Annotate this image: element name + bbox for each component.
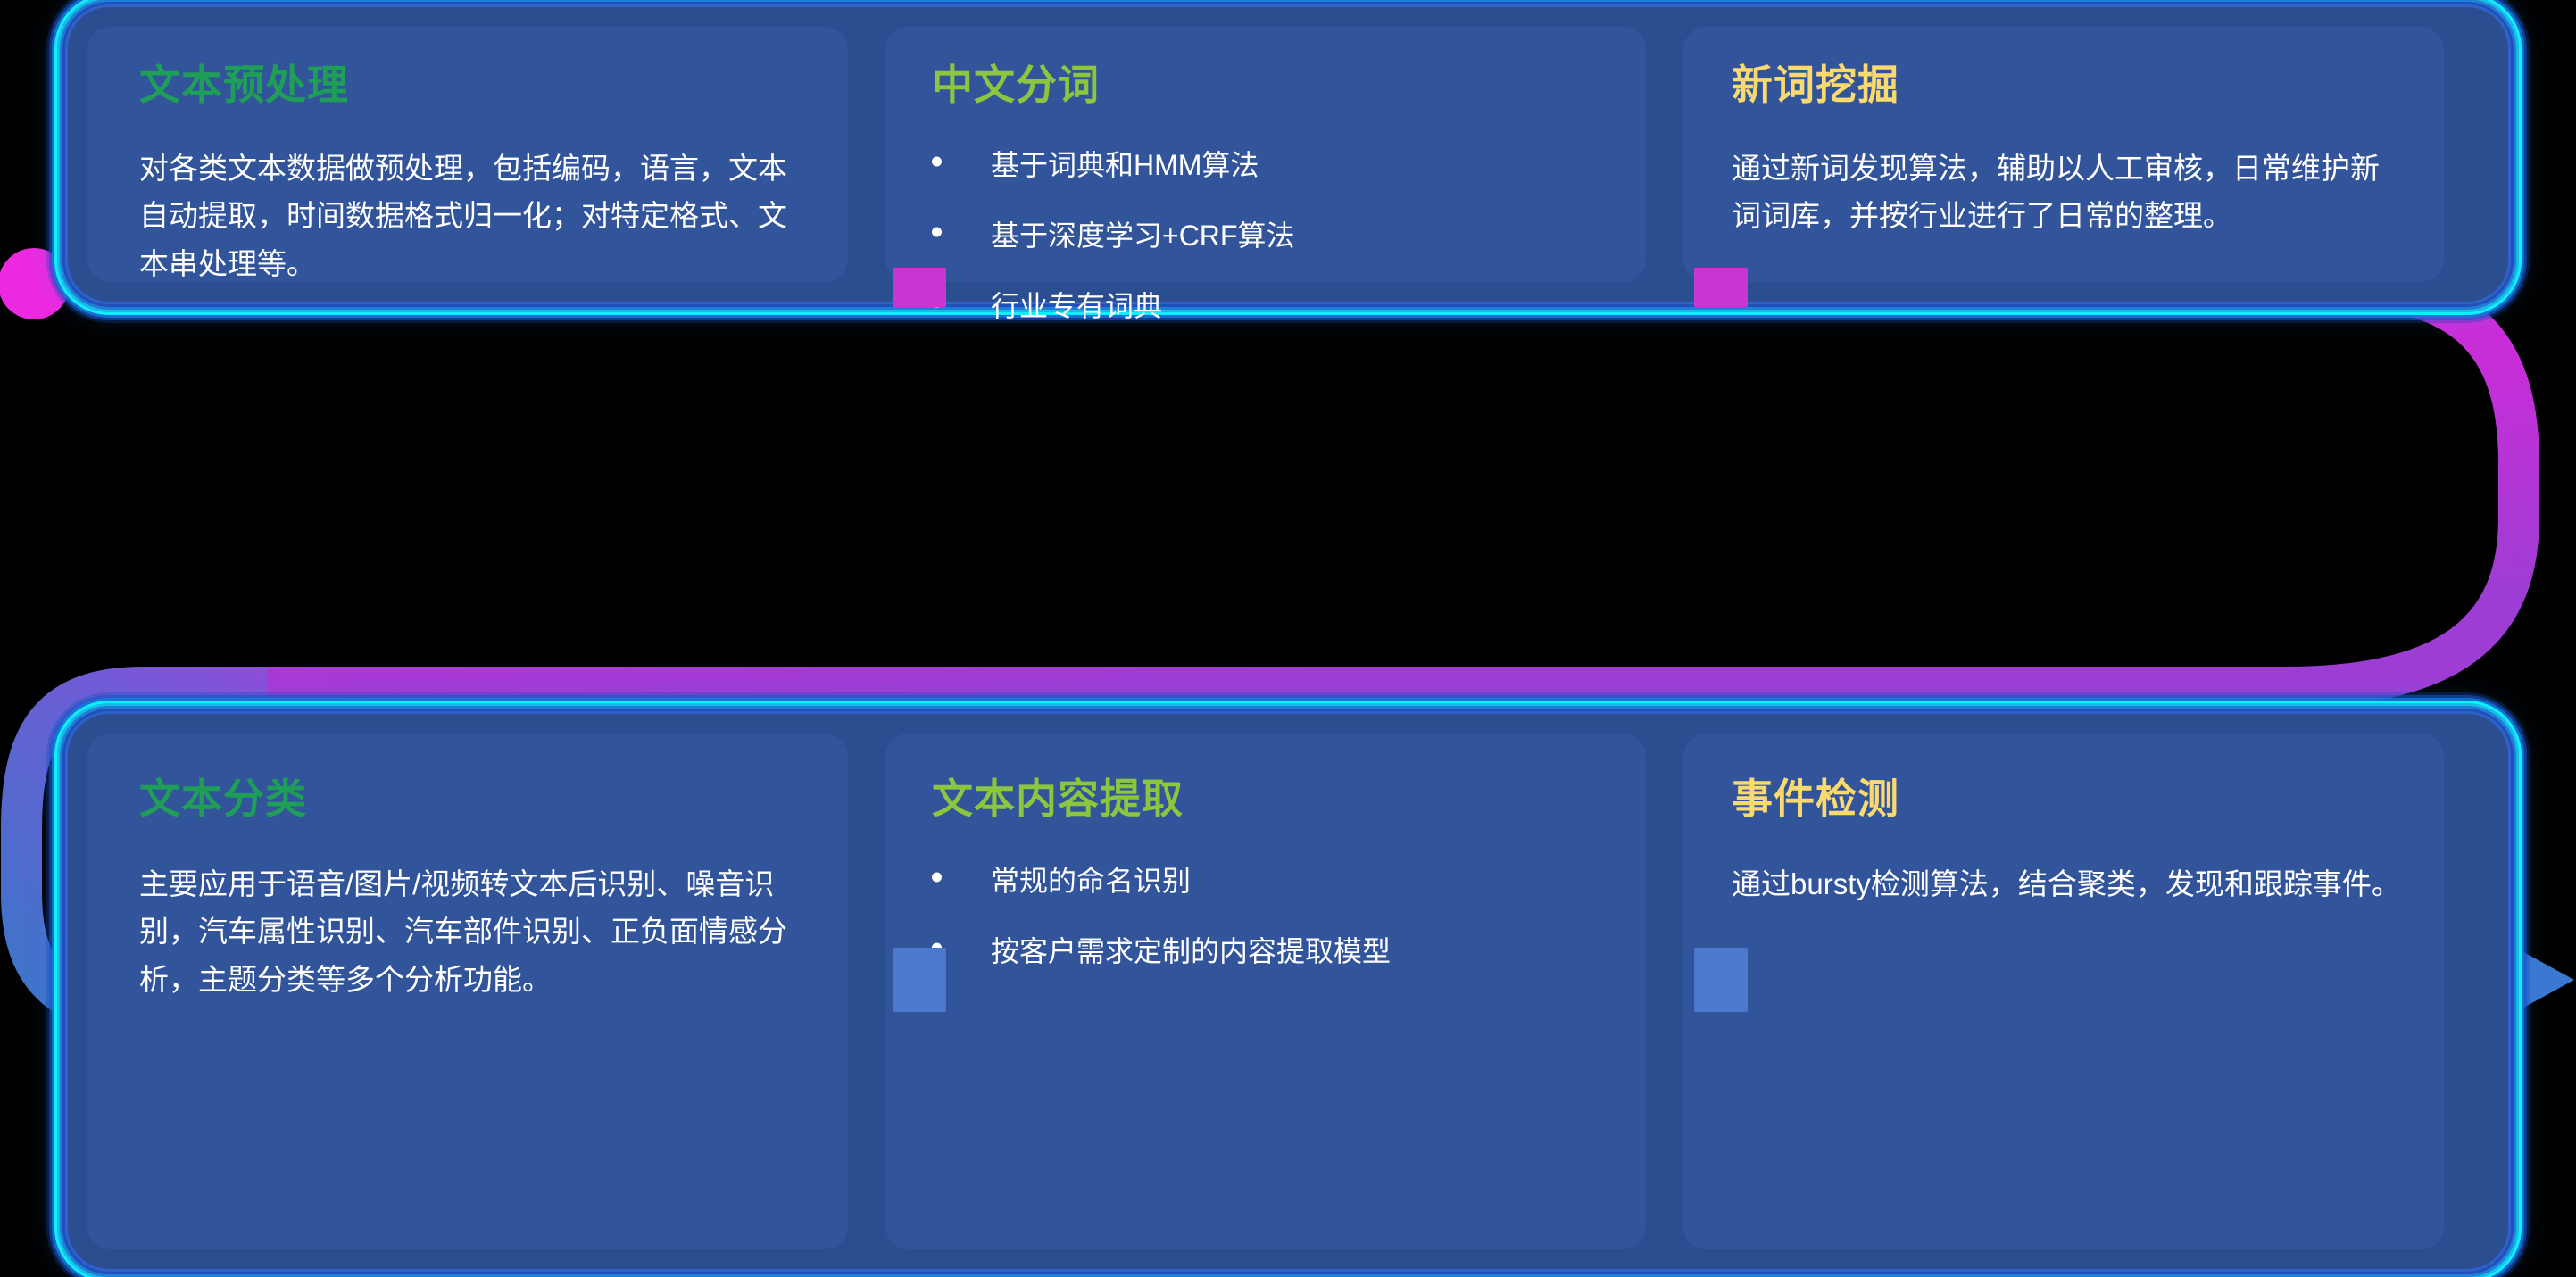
- list-item: 按客户需求定制的内容提取模型: [932, 933, 1619, 971]
- connector-nub-bottom-2: [1694, 948, 1748, 1012]
- card-chinese-word-segmentation[interactable]: 中文分词 基于词典和HMM算法 基于深度学习+CRF算法 行业专有词典: [885, 27, 1646, 282]
- card-text-content-extraction[interactable]: 文本内容提取 常规的命名识别 按客户需求定制的内容提取模型: [885, 734, 1646, 1249]
- card-paragraph: 主要应用于语音/图片/视频转文本后识别、噪音识别，汽车属性识别、汽车部件识别、正…: [139, 860, 807, 1003]
- list-item-label: 基于深度学习+CRF算法: [991, 220, 1294, 252]
- bullet-dot-icon: [932, 872, 942, 882]
- flow-curve-right: [143, 284, 2519, 687]
- card-title: 新词挖掘: [1732, 64, 2405, 105]
- connector-nub-top-1: [893, 268, 946, 307]
- list-item-label: 按客户需求定制的内容提取模型: [991, 935, 1391, 967]
- card-text-preprocessing[interactable]: 文本预处理 对各类文本数据做预处理，包括编码，语言，文本自动提取，时间数据格式归…: [87, 27, 848, 282]
- list-item-label: 行业专有词典: [991, 290, 1162, 322]
- card-event-detection[interactable]: 事件检测 通过bursty检测算法，结合聚类，发现和跟踪事件。: [1683, 734, 2444, 1249]
- bullet-dot-icon: [932, 156, 942, 166]
- list-item-label: 常规的命名识别: [991, 865, 1191, 897]
- card-paragraph: 通过新词发现算法，辅助以人工审核，日常维护新词词库，并按行业进行了日常的整理。: [1732, 145, 2405, 240]
- arrow-right-icon: [2499, 939, 2574, 1021]
- card-paragraph: 通过bursty检测算法，结合聚类，发现和跟踪事件。: [1732, 860, 2405, 908]
- card-bullet-list: 基于词典和HMM算法 基于深度学习+CRF算法 行业专有词典: [932, 146, 1610, 327]
- list-item: 基于深度学习+CRF算法: [932, 217, 1610, 255]
- card-body: 通过新词发现算法，辅助以人工审核，日常维护新词词库，并按行业进行了日常的整理。: [1732, 145, 2405, 240]
- card-title: 事件检测: [1732, 778, 2405, 819]
- list-item: 常规的命名识别: [932, 862, 1619, 900]
- card-paragraph: 对各类文本数据做预处理，包括编码，语言，文本自动提取，时间数据格式归一化；对特定…: [139, 145, 807, 287]
- card-text-classification[interactable]: 文本分类 主要应用于语音/图片/视频转文本后识别、噪音识别，汽车属性识别、汽车部…: [87, 734, 848, 1249]
- list-item: 行业专有词典: [932, 287, 1610, 326]
- connector-nub-bottom-1: [893, 948, 946, 1012]
- card-new-word-discovery[interactable]: 新词挖掘 通过新词发现算法，辅助以人工审核，日常维护新词词库，并按行业进行了日常…: [1683, 27, 2444, 282]
- list-item-label: 基于词典和HMM算法: [991, 149, 1259, 181]
- diagram-canvas: 文本预处理 对各类文本数据做预处理，包括编码，语言，文本自动提取，时间数据格式归…: [0, 0, 2576, 1277]
- card-bullet-list: 常规的命名识别 按客户需求定制的内容提取模型: [932, 862, 1619, 971]
- connector-nub-top-2: [1694, 268, 1748, 307]
- card-title: 中文分词: [932, 64, 1610, 105]
- row-top: 文本预处理 对各类文本数据做预处理，包括编码，语言，文本自动提取，时间数据格式归…: [68, 7, 2508, 302]
- card-title: 文本内容提取: [932, 778, 1619, 819]
- row-bottom: 文本分类 主要应用于语音/图片/视频转文本后识别、噪音识别，汽车属性识别、汽车部…: [68, 714, 2508, 1269]
- card-body: 主要应用于语音/图片/视频转文本后识别、噪音识别，汽车属性识别、汽车部件识别、正…: [139, 860, 807, 1003]
- card-body: 通过bursty检测算法，结合聚类，发现和跟踪事件。: [1732, 860, 2405, 908]
- card-body: 对各类文本数据做预处理，包括编码，语言，文本自动提取，时间数据格式归一化；对特定…: [139, 145, 807, 287]
- bullet-dot-icon: [932, 227, 942, 236]
- card-title: 文本分类: [139, 778, 807, 819]
- card-title: 文本预处理: [139, 64, 807, 105]
- list-item: 基于词典和HMM算法: [932, 146, 1610, 185]
- start-dot-icon: [0, 248, 70, 319]
